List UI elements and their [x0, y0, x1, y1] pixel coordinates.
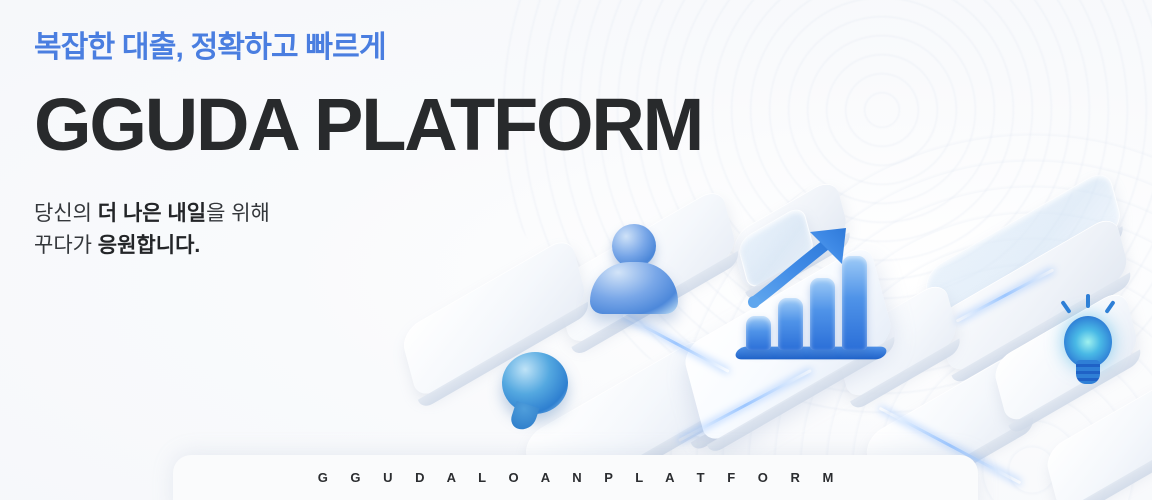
hero-subtext-line-1: 당신의 더 나은 내일을 위해 — [34, 198, 702, 230]
subline1-strong: 더 나은 내일 — [98, 202, 206, 225]
bulb-base — [1076, 360, 1100, 384]
speech-bubble-icon — [502, 352, 568, 414]
hero-subtext: 당신의 더 나은 내일을 위해 꾸다가 응원합니다. — [34, 198, 702, 261]
subline1-suffix: 을 위해 — [206, 202, 270, 225]
subline1-prefix: 당신의 — [34, 202, 98, 225]
lightbulb-icon — [1060, 310, 1116, 390]
hero-copy: 복잡한 대출, 정확하고 빠르게 GGUDA PLATFORM 당신의 더 나은… — [34, 30, 702, 261]
subline2-strong: 응원합니다. — [98, 234, 200, 257]
growth-arrow-icon — [748, 224, 866, 310]
hero-banner: 복잡한 대출, 정확하고 빠르게 GGUDA PLATFORM 당신의 더 나은… — [0, 0, 1152, 500]
ribbon-label: G G U D A L O A N P L A T F O R M — [308, 470, 843, 485]
hero-eyebrow: 복잡한 대출, 정확하고 빠르게 — [34, 30, 702, 66]
bulb-ray — [1086, 294, 1090, 308]
hero-headline: GGUDA PLATFORM — [34, 88, 702, 162]
chart-bar — [746, 316, 771, 350]
subline2-prefix: 꾸다가 — [34, 234, 98, 257]
bottom-ribbon-card: G G U D A L O A N P L A T F O R M — [173, 455, 978, 500]
bar-chart-icon — [746, 230, 906, 350]
hero-subtext-line-2: 꾸다가 응원합니다. — [34, 230, 702, 262]
